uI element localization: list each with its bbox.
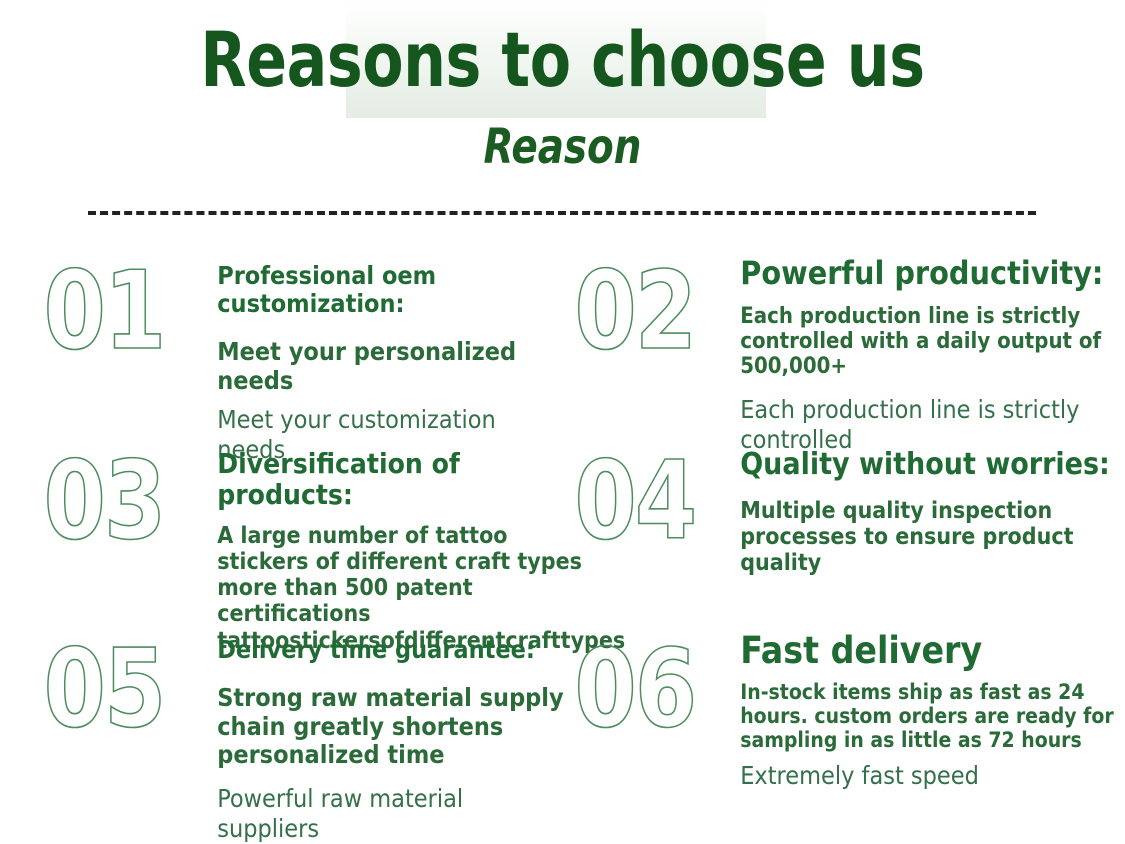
reason-title-06: Fast delivery xyxy=(740,630,1125,671)
reason-text-02: Powerful productivity: Each production l… xyxy=(706,248,1125,455)
reason-item-03: 03 Diversification of products: A large … xyxy=(0,438,565,626)
reason-item-04: 04 Quality without worries: Multiple qua… xyxy=(565,438,1125,626)
reason-item-01: 01 Professional oem customization: Meet … xyxy=(0,248,565,438)
reason-text-04: Quality without worries: Multiple qualit… xyxy=(706,438,1125,576)
page-title: Reasons to choose us xyxy=(68,22,1058,98)
reason-text-01: Professional oem customization: Meet you… xyxy=(175,248,565,465)
dashed-divider xyxy=(88,211,1036,215)
reason-middle-05: Strong raw material supply chain greatly… xyxy=(217,684,565,770)
reason-text-05: Delivery time guarantee: Strong raw mate… xyxy=(175,626,565,844)
reason-title-04: Quality without worries: xyxy=(740,448,1125,482)
page-subtitle: Reason xyxy=(56,123,1069,171)
reason-item-02: 02 Powerful productivity: Each productio… xyxy=(565,248,1125,438)
reason-middle-02: Each production line is strictly control… xyxy=(740,304,1125,379)
reason-title-02: Powerful productivity: xyxy=(740,256,1125,292)
reason-sub-05: Powerful raw material suppliers xyxy=(217,784,565,844)
reason-middle-06: In-stock items ship as fast as 24 hours.… xyxy=(740,681,1125,753)
reasons-to-choose-us-page: Reasons to choose us Reason 01 Professio… xyxy=(0,0,1125,819)
reason-item-05: 05 Delivery time guarantee: Strong raw m… xyxy=(0,626,565,816)
reason-middle-01: Meet your personalized needs xyxy=(217,338,565,395)
reason-number-03: 03 xyxy=(40,438,164,556)
reason-text-03: Diversification of products: A large num… xyxy=(175,438,587,654)
reason-title-01: Professional oem customization: xyxy=(217,262,565,318)
reasons-grid: 01 Professional oem customization: Meet … xyxy=(0,248,1125,816)
page-header: Reasons to choose us Reason xyxy=(0,0,1125,232)
reason-item-06: 06 Fast delivery In-stock items ship as … xyxy=(565,626,1125,816)
reason-title-03: Diversification of products: xyxy=(217,448,587,511)
reason-number-06: 06 xyxy=(569,626,695,744)
reason-number-04: 04 xyxy=(569,438,695,556)
reason-middle-04: Multiple quality inspection processes to… xyxy=(740,498,1125,577)
reason-number-02: 02 xyxy=(569,248,695,366)
reason-number-01: 01 xyxy=(40,248,164,366)
reason-sub-06: Extremely fast speed xyxy=(740,761,1125,791)
reason-text-06: Fast delivery In-stock items ship as fas… xyxy=(706,626,1125,791)
reason-number-05: 05 xyxy=(40,626,164,744)
reason-title-05: Delivery time guarantee: xyxy=(217,636,565,664)
